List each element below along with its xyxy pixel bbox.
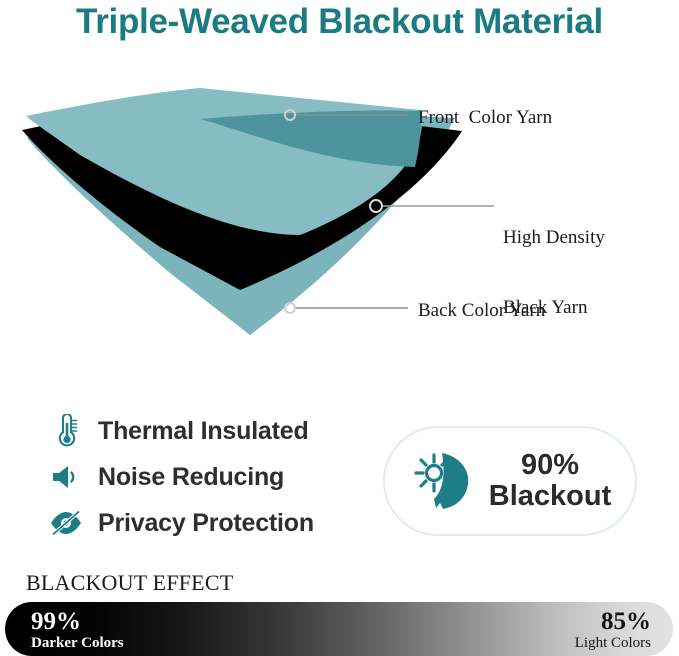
callout-label-back: Back Color Yarn bbox=[418, 299, 545, 322]
callout-label-front: Front Color Yarn bbox=[418, 106, 552, 129]
feature-item-privacy: Privacy Protection bbox=[46, 500, 366, 546]
eye-slash-icon bbox=[46, 503, 86, 543]
speaker-sound-icon bbox=[46, 457, 86, 497]
page-title: Triple-Weaved Blackout Material bbox=[0, 2, 679, 42]
blackout-effect-darker: 99% Darker Colors bbox=[31, 609, 124, 651]
darker-colors-percent: 99% bbox=[31, 609, 124, 635]
blackout-effect-light: 85% Light Colors bbox=[575, 609, 651, 651]
blackout-effect-bar: 99% Darker Colors 85% Light Colors bbox=[5, 602, 673, 656]
thermometer-icon bbox=[46, 411, 86, 451]
feature-label-thermal: Thermal Insulated bbox=[98, 417, 309, 446]
blackout-badge-text: 90% Blackout bbox=[489, 450, 611, 513]
blackout-badge: 90% Blackout bbox=[383, 426, 637, 536]
callout-label-black-yarn-line1: High Density bbox=[503, 226, 605, 249]
feature-label-noise: Noise Reducing bbox=[98, 463, 284, 492]
light-colors-label: Light Colors bbox=[575, 636, 651, 651]
feature-list: Thermal Insulated Noise Reducing Privacy… bbox=[46, 408, 366, 546]
feature-label-privacy: Privacy Protection bbox=[98, 509, 314, 538]
light-colors-percent: 85% bbox=[575, 609, 651, 635]
callout-back bbox=[285, 303, 408, 313]
blackout-label: Blackout bbox=[489, 480, 611, 512]
sun-curtain-icon bbox=[409, 444, 483, 518]
feature-item-noise: Noise Reducing bbox=[46, 454, 366, 500]
darker-colors-label: Darker Colors bbox=[31, 636, 124, 651]
blackout-effect-heading: BLACKOUT EFFECT bbox=[26, 570, 233, 596]
blackout-percent: 90% bbox=[521, 449, 579, 481]
feature-item-thermal: Thermal Insulated bbox=[46, 408, 366, 454]
